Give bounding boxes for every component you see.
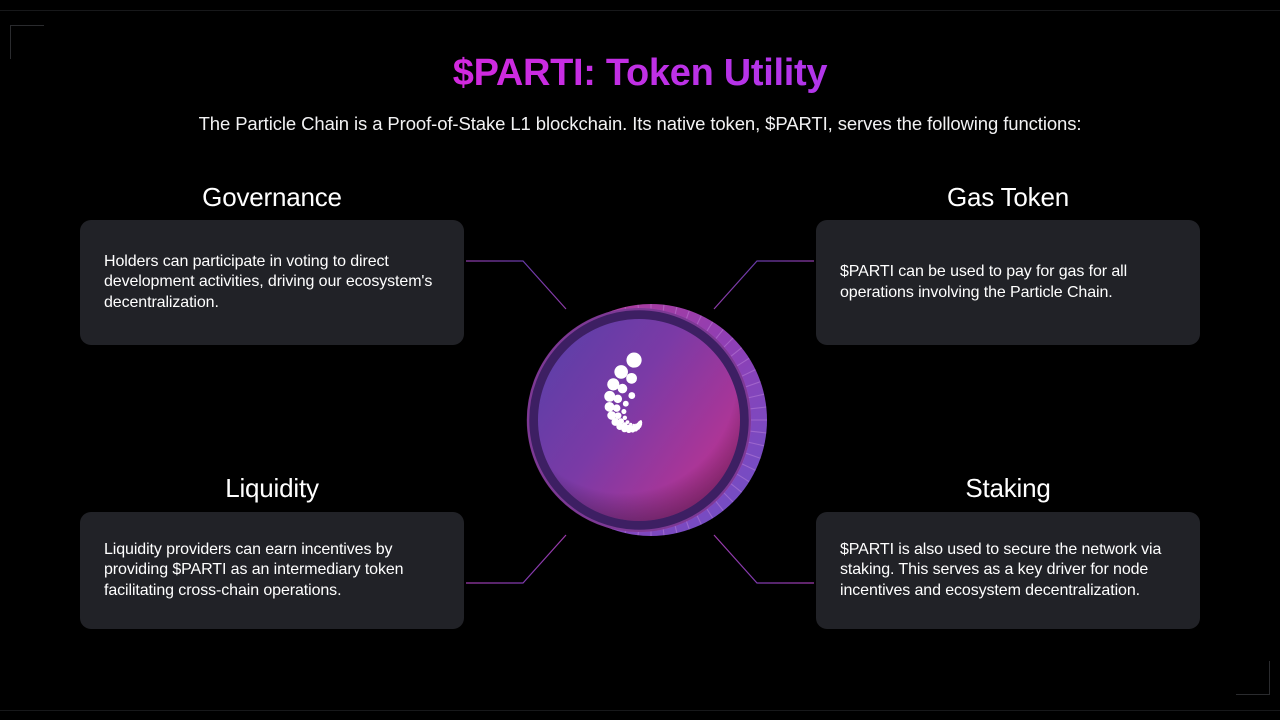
card-liquidity-body: Liquidity providers can earn incentives …	[104, 540, 440, 602]
frame-line-top	[0, 10, 1280, 11]
heading-liquidity: Liquidity	[80, 473, 464, 504]
card-staking: $PARTI is also used to secure the networ…	[816, 512, 1200, 629]
parti-token-coin	[515, 294, 770, 549]
heading-staking: Staking	[816, 473, 1200, 504]
card-governance-body: Holders can participate in voting to dir…	[104, 252, 440, 314]
heading-governance: Governance	[80, 182, 464, 213]
card-liquidity: Liquidity providers can earn incentives …	[80, 512, 464, 629]
heading-gas-token: Gas Token	[816, 182, 1200, 213]
coin-face-shading	[538, 319, 740, 521]
card-governance: Holders can participate in voting to dir…	[80, 220, 464, 345]
page-subtitle: The Particle Chain is a Proof-of-Stake L…	[0, 113, 1280, 135]
card-gas-token: $PARTI can be used to pay for gas for al…	[816, 220, 1200, 345]
page-title: $PARTI: Token Utility	[0, 52, 1280, 95]
frame-line-bottom	[0, 710, 1280, 711]
slide-root: $PARTI: Token Utility The Particle Chain…	[0, 0, 1280, 720]
corner-bracket-bottom-right	[1236, 661, 1270, 695]
card-staking-body: $PARTI is also used to secure the networ…	[840, 540, 1176, 602]
card-gas-token-body: $PARTI can be used to pay for gas for al…	[840, 262, 1176, 303]
